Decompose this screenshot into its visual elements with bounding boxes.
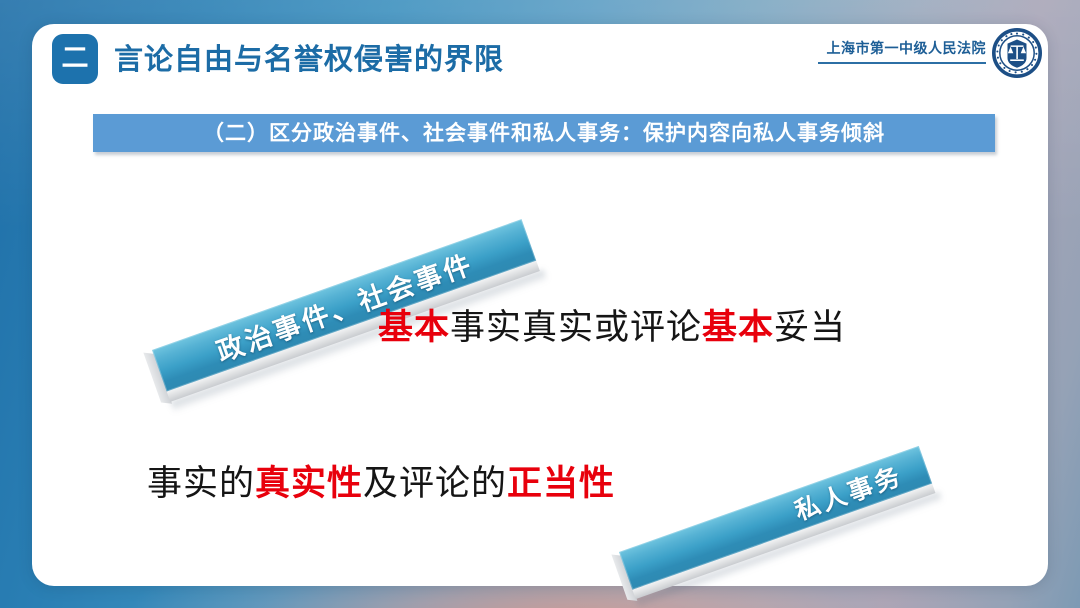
slide-header: 二 言论自由与名誉权侵害的界限 上海市第一中级人民法院 — [32, 24, 1048, 102]
statement-segment-3: 妥当 — [774, 308, 846, 348]
brand-underline — [818, 62, 986, 64]
statement-segment-2: 基本 — [702, 307, 774, 348]
statement-line-1: 基本事实真实或评论基本妥当 — [378, 299, 846, 350]
statement-segment-1: 真实性 — [255, 463, 363, 504]
statement-segment-3: 正当性 — [507, 463, 615, 504]
court-seal-icon — [992, 28, 1042, 78]
statement-segment-0: 基本 — [378, 307, 450, 348]
slide-content-card: 二 言论自由与名誉权侵害的界限 上海市第一中级人民法院 — [32, 24, 1048, 586]
statement-line-2: 事实的真实性及评论的正当性 — [147, 455, 615, 506]
statement-segment-1: 事实真实或评论 — [450, 308, 702, 348]
section-number-badge: 二 — [52, 34, 98, 84]
section-banner: （二）区分政治事件、社会事件和私人事务：保护内容向私人事务倾斜 — [93, 114, 995, 152]
slide-canvas: 二 言论自由与名誉权侵害的界限 上海市第一中级人民法院 — [0, 0, 1080, 608]
court-name-label: 上海市第一中级人民法院 — [818, 38, 986, 58]
court-brand: 上海市第一中级人民法院 — [818, 38, 986, 64]
statement-segment-0: 事实的 — [147, 464, 255, 504]
page-title: 言论自由与名誉权侵害的界限 — [114, 36, 504, 78]
statement-segment-2: 及评论的 — [363, 464, 507, 504]
